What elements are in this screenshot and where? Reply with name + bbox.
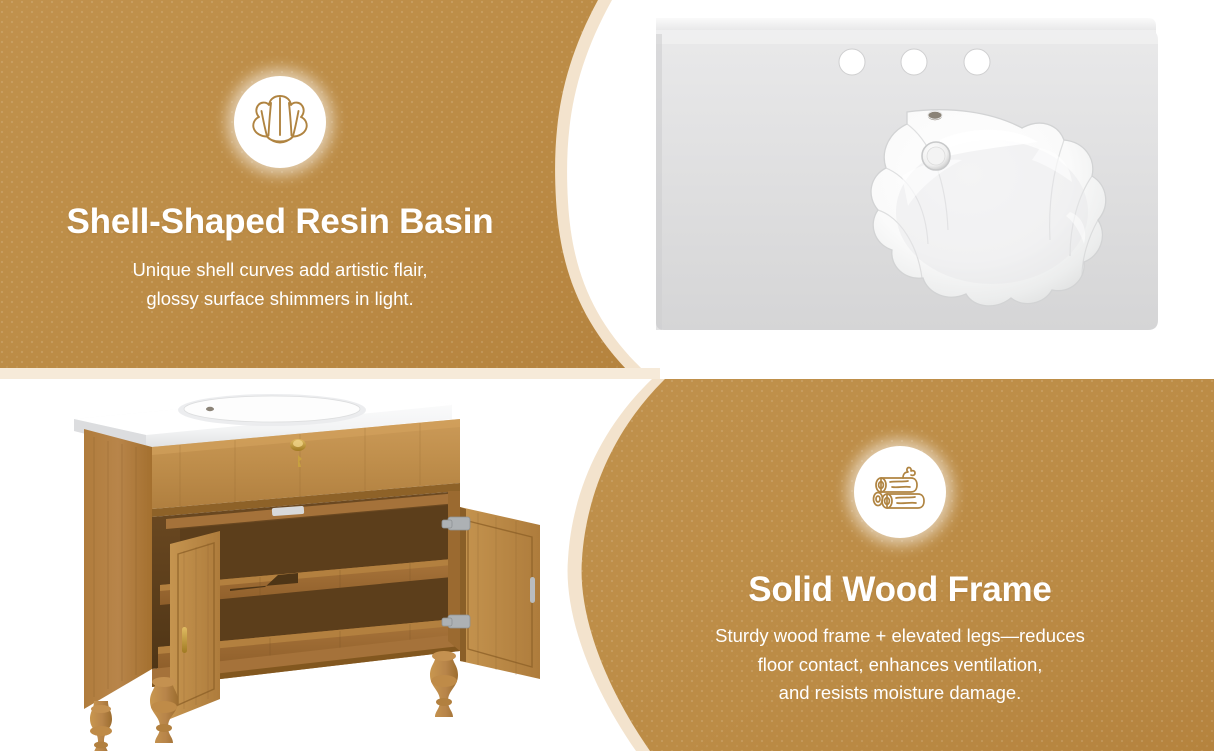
- feature-heading: Shell-Shaped Resin Basin: [0, 202, 560, 242]
- feature-subtext: Sturdy wood frame + elevated legs—reduce…: [620, 622, 1180, 708]
- feature-heading: Solid Wood Frame: [620, 570, 1180, 610]
- shell-icon: [249, 91, 311, 154]
- feature-subtext-line: floor contact, enhances ventilation,: [620, 651, 1180, 680]
- feature-subtext-line: and resists moisture damage.: [620, 679, 1180, 708]
- feature-subtext-line: Unique shell curves add artistic flair,: [0, 256, 560, 285]
- feature-shell-basin: Shell-Shaped Resin Basin Unique shell cu…: [0, 76, 560, 313]
- marketing-banner: Shell-Shaped Resin Basin Unique shell cu…: [0, 0, 1214, 751]
- feature-solid-wood-frame: Solid Wood Frame Sturdy wood frame + ele…: [620, 446, 1180, 708]
- vanity-photo: [60, 379, 580, 751]
- log-stack-icon-badge: [854, 446, 946, 538]
- feature-subtext: Unique shell curves add artistic flair, …: [0, 256, 560, 313]
- feature-subtext-line: glossy surface shimmers in light.: [0, 285, 560, 314]
- log-stack-icon: [870, 464, 930, 521]
- feature-subtext-line: Sturdy wood frame + elevated legs—reduce…: [620, 622, 1180, 651]
- shell-icon-badge: [234, 76, 326, 168]
- horizontal-divider: [0, 368, 660, 379]
- sink-top-photo: [640, 0, 1214, 369]
